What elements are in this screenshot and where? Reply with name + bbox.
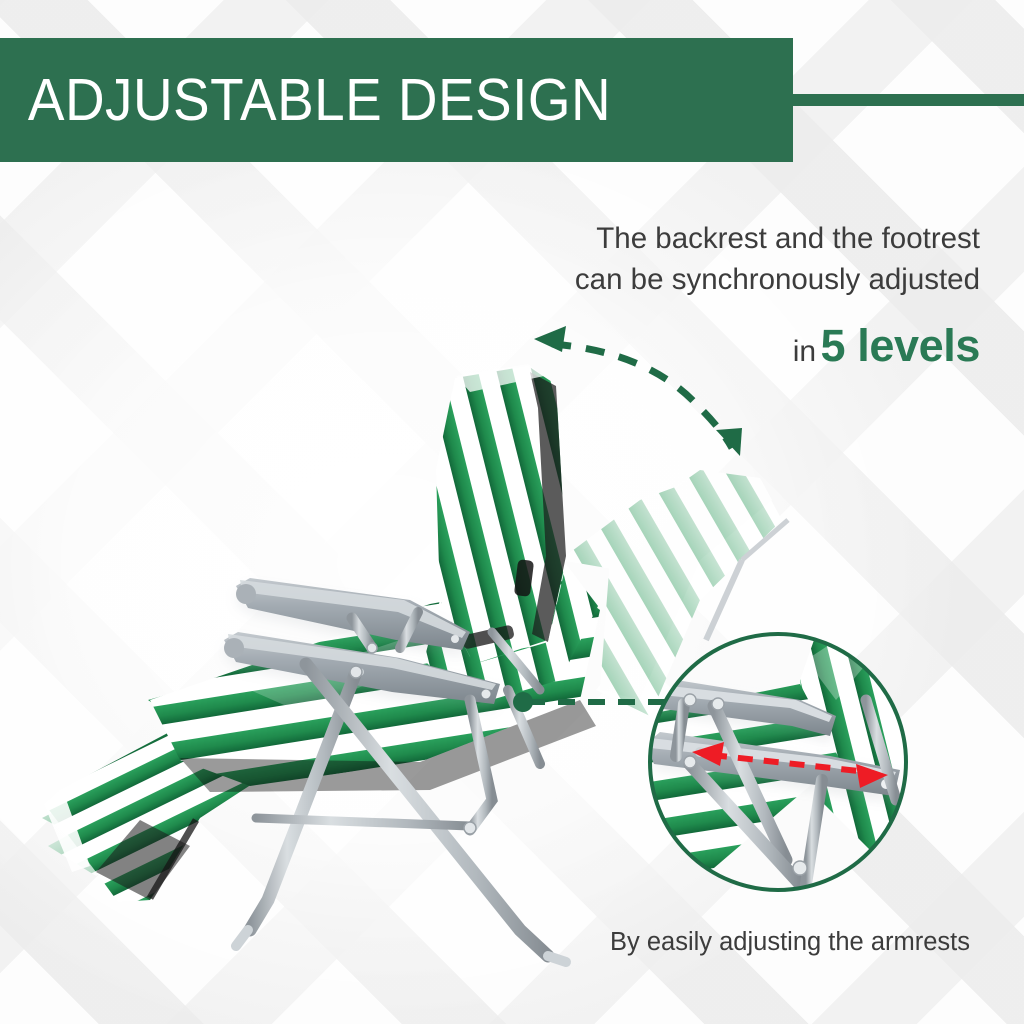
levels-line: in 5 levels (460, 320, 980, 372)
infographic-canvas: ADJUSTABLE DESIGN The backrest and the f… (0, 0, 1024, 1024)
header-rule (770, 94, 1024, 106)
feature-copy-line-1: The backrest and the footrest (460, 218, 980, 259)
page-title: ADJUSTABLE DESIGN (0, 66, 611, 134)
feature-copy-line-2: can be synchronously adjusted (460, 259, 980, 300)
header-banner: ADJUSTABLE DESIGN (0, 38, 793, 162)
callout-caption: By easily adjusting the armrests (610, 928, 970, 957)
levels-prefix: in (793, 335, 816, 368)
feature-copy: The backrest and the footrest can be syn… (460, 218, 980, 372)
levels-value: 5 levels (821, 320, 980, 371)
armrest-detail-callout (640, 600, 980, 890)
